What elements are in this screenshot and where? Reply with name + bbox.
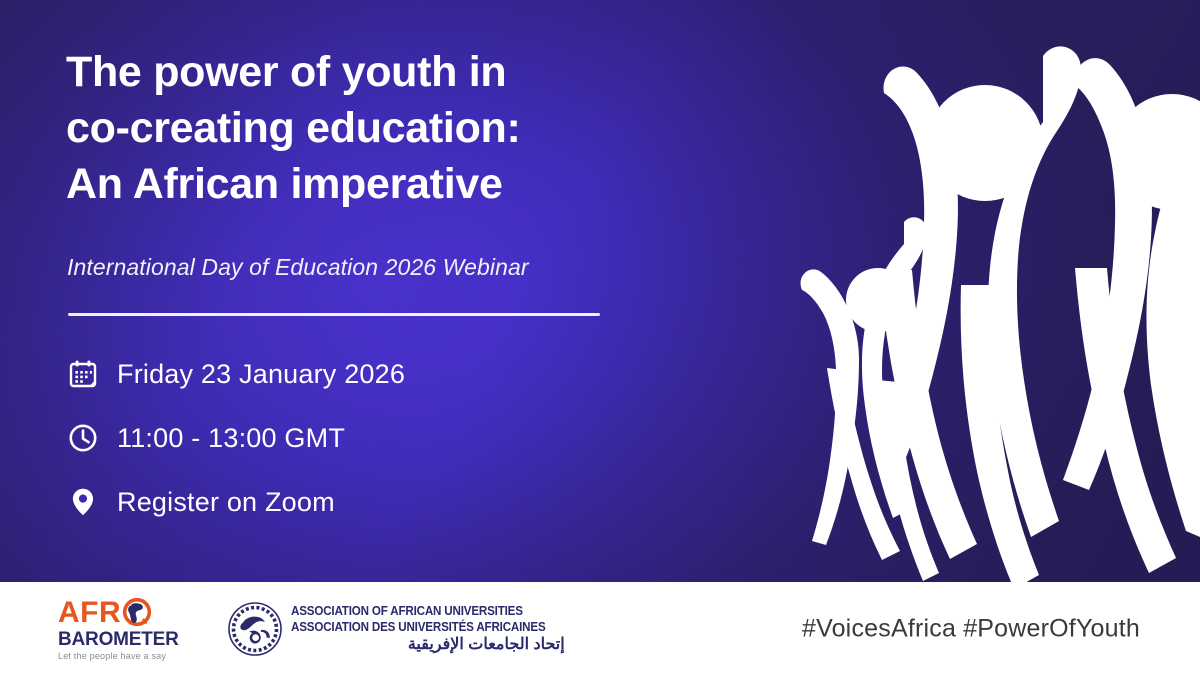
event-detail-time: 11:00 - 13:00 GMT xyxy=(66,406,626,470)
event-time-text: 11:00 - 13:00 GMT xyxy=(117,423,345,454)
aau-text-block: ASSOCIATION OF AFRICAN UNIVERSITIES ASSO… xyxy=(291,603,565,655)
title-line-3: An African imperative xyxy=(66,156,686,212)
title-line-2: co-creating education: xyxy=(66,100,686,156)
aau-name-english: ASSOCIATION OF AFRICAN UNIVERSITIES xyxy=(291,603,546,619)
partner-logos: AFR BAROMETER Let the people have a say xyxy=(58,598,565,660)
afrobarometer-logo: AFR BAROMETER Let the people have a say xyxy=(58,598,194,660)
aau-name-french: ASSOCIATION DES UNIVERSITÉS AFRICAINES xyxy=(291,619,546,635)
hero-content: The power of youth in co-creating educat… xyxy=(66,0,686,582)
event-detail-location[interactable]: Register on Zoom xyxy=(66,470,626,534)
event-date-text: Friday 23 January 2026 xyxy=(117,359,405,390)
aau-logo: ASSOCIATION OF AFRICAN UNIVERSITIES ASSO… xyxy=(227,601,565,657)
afrobarometer-tagline: Let the people have a say xyxy=(58,651,194,662)
divider-rule xyxy=(68,313,600,316)
event-location-text: Register on Zoom xyxy=(117,487,335,518)
aau-emblem-icon xyxy=(227,601,283,657)
page-title: The power of youth in co-creating educat… xyxy=(66,44,686,212)
event-subtitle: International Day of Education 2026 Webi… xyxy=(67,254,529,281)
africa-map-o-icon xyxy=(122,598,152,628)
afrobarometer-afro-text: AFR xyxy=(58,598,121,628)
afrobarometer-barometer-text: BAROMETER xyxy=(58,629,194,650)
aau-name-arabic: إتحاد الجامعات الإفريقية xyxy=(291,635,565,655)
location-pin-icon xyxy=(66,485,100,519)
event-details-list: Friday 23 January 2026 11:00 - 13:00 GMT xyxy=(66,342,626,534)
event-detail-date: Friday 23 January 2026 xyxy=(66,342,626,406)
clock-icon xyxy=(66,421,100,455)
webinar-promo-poster: The power of youth in co-creating educat… xyxy=(0,0,1200,675)
hashtags-text: #VoicesAfrica #PowerOfYouth xyxy=(802,614,1140,643)
title-line-1: The power of youth in xyxy=(66,44,686,100)
calendar-icon xyxy=(66,357,100,391)
afrobarometer-wordmark: AFR xyxy=(58,598,194,628)
footer-bar: AFR BAROMETER Let the people have a say xyxy=(0,582,1200,675)
